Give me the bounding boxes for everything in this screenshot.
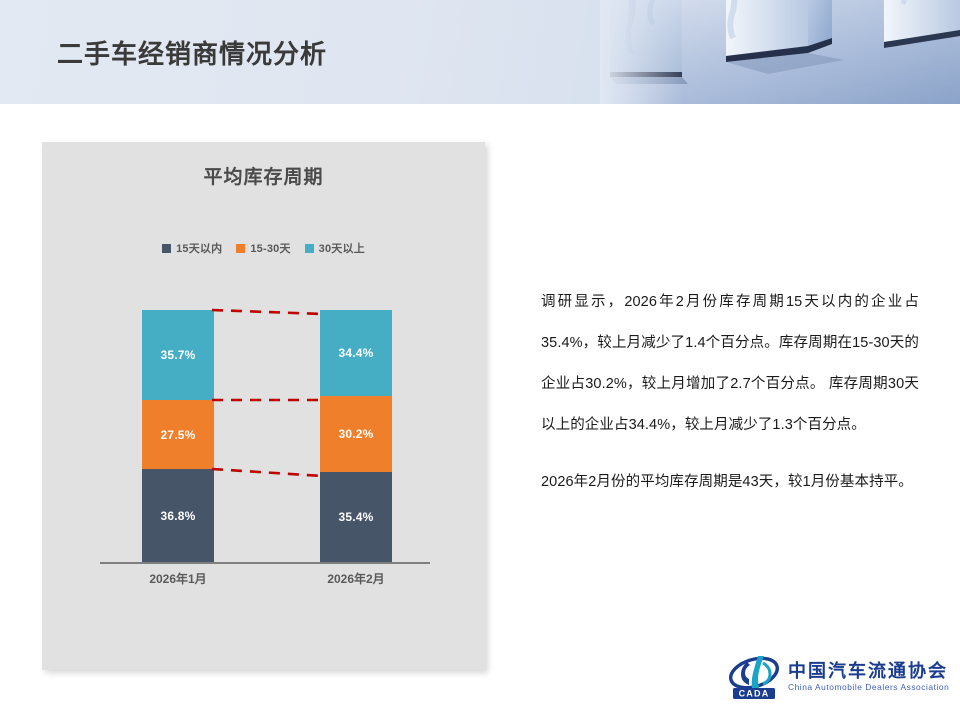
commentary-paragraph-2: 2026年2月份的平均库存周期是43天，较1月份基本持平。 [541, 462, 919, 503]
legend-label: 15-30天 [250, 240, 290, 256]
bar-value-label: 35.7% [160, 348, 195, 362]
connector-line-bottom [212, 469, 322, 476]
bar-value-label: 36.8% [160, 509, 195, 523]
legend-swatch-icon [162, 244, 171, 253]
legend-swatch-icon [305, 244, 314, 253]
header-decoration-cubes [600, 0, 960, 104]
slide-canvas: 二手车经销商情况分析 平均库存周期 15天以内 15-30天 30天以上 35.… [0, 0, 960, 720]
cada-emblem-svg: CADA [728, 654, 780, 700]
bar-value-label: 27.5% [160, 428, 195, 442]
organization-logo: CADA 中国汽车流通协会 China Automobile Dealers A… [728, 652, 946, 702]
chart-plot-area: 35.7% 27.5% 36.8% 34.4% 30.2% 35.4% [42, 292, 485, 592]
bar-value-label: 30.2% [338, 427, 373, 441]
page-title: 二手车经销商情况分析 [57, 34, 327, 71]
legend-label: 30天以上 [319, 240, 365, 256]
bar-value-label: 34.4% [338, 346, 373, 360]
cada-emblem-icon: CADA [728, 654, 780, 700]
bar-segment-15to30[interactable]: 27.5% [142, 400, 214, 469]
chart-panel: 平均库存周期 15天以内 15-30天 30天以上 35.7% [42, 142, 485, 670]
bar-column-1[interactable]: 34.4% 30.2% 35.4% [320, 310, 392, 562]
cubes-graphic [600, 0, 960, 104]
category-label-0: 2026年1月 [118, 570, 238, 587]
slide-header-band: 二手车经销商情况分析 [0, 0, 960, 104]
logo-text-group: 中国汽车流通协会 China Automobile Dealers Associ… [788, 661, 949, 693]
bar-segment-30plus[interactable]: 34.4% [320, 310, 392, 396]
commentary-block: 调研显示，2026年2月份库存周期15天以内的企业占35.4%，较上月减少了1.… [541, 282, 919, 503]
chart-title: 平均库存周期 [42, 162, 485, 189]
bar-column-0[interactable]: 35.7% 27.5% 36.8% [142, 310, 214, 562]
legend-item-2[interactable]: 30天以上 [305, 240, 365, 256]
connector-line-top [212, 310, 322, 314]
logo-name-en: China Automobile Dealers Association [788, 682, 949, 693]
legend-item-1[interactable]: 15-30天 [236, 240, 290, 256]
chart-legend: 15天以内 15-30天 30天以上 [42, 240, 485, 256]
cada-mark-text: CADA [739, 689, 770, 699]
bar-segment-under15[interactable]: 35.4% [320, 472, 392, 562]
series-connector-lines [42, 292, 485, 592]
legend-swatch-icon [236, 244, 245, 253]
bar-value-label: 35.4% [338, 510, 373, 524]
category-axis-labels: 2026年1月 2026年2月 [42, 570, 485, 594]
legend-label: 15天以内 [176, 240, 222, 256]
legend-item-0[interactable]: 15天以内 [162, 240, 222, 256]
bar-segment-30plus[interactable]: 35.7% [142, 310, 214, 400]
bar-segment-15to30[interactable]: 30.2% [320, 396, 392, 472]
category-axis-line [100, 562, 430, 564]
logo-name-cn: 中国汽车流通协会 [788, 661, 949, 682]
commentary-paragraph-1: 调研显示，2026年2月份库存周期15天以内的企业占35.4%，较上月减少了1.… [541, 282, 919, 446]
bar-segment-under15[interactable]: 36.8% [142, 469, 214, 562]
category-label-1: 2026年2月 [296, 570, 416, 587]
